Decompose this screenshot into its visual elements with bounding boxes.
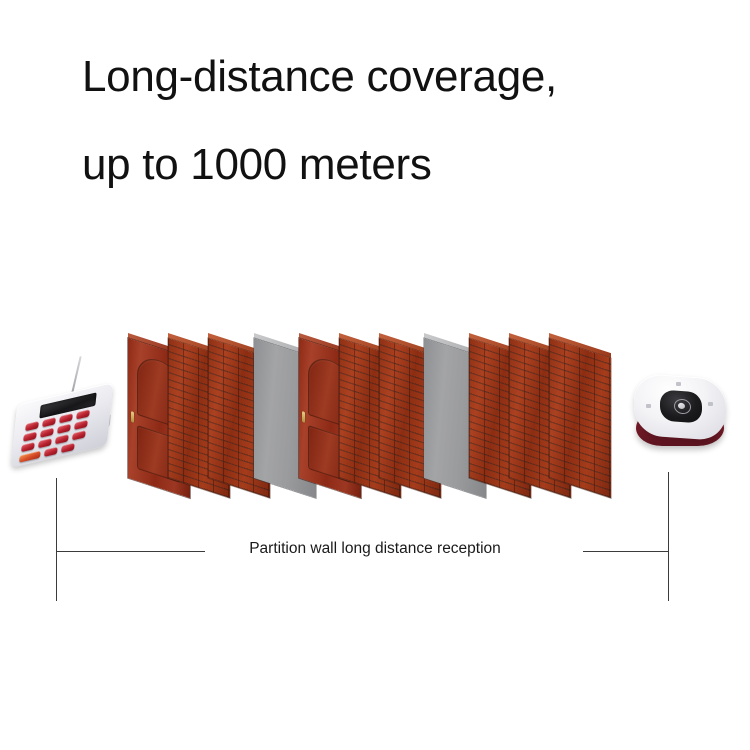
keypad-key[interactable] bbox=[42, 417, 56, 427]
panel-brick bbox=[549, 338, 611, 498]
keypad-key[interactable] bbox=[74, 420, 88, 430]
receiver-indicator-icon bbox=[708, 402, 713, 406]
headline-line-1: Long-distance coverage, bbox=[82, 55, 722, 99]
brick-face bbox=[549, 338, 611, 498]
keypad-key[interactable] bbox=[40, 428, 54, 438]
door-handle bbox=[131, 411, 134, 423]
keypad-key[interactable] bbox=[21, 442, 35, 452]
receiver-call-button[interactable] bbox=[674, 398, 691, 414]
infographic-root: Long-distance coverage, up to 1000 meter… bbox=[0, 0, 750, 750]
transmitter-device[interactable] bbox=[6, 352, 126, 472]
keypad-key[interactable] bbox=[72, 430, 86, 440]
receiver-indicator-icon bbox=[676, 382, 681, 386]
keypad-key[interactable] bbox=[23, 432, 37, 442]
receiver-device[interactable] bbox=[620, 358, 740, 478]
headline-line-2: up to 1000 meters bbox=[82, 143, 722, 187]
keypad-key[interactable] bbox=[38, 438, 52, 448]
door-handle bbox=[302, 411, 305, 423]
page-title: Long-distance coverage, up to 1000 meter… bbox=[82, 55, 722, 187]
keypad-key[interactable] bbox=[57, 424, 71, 434]
keypad-key[interactable] bbox=[55, 434, 69, 444]
keypad-key[interactable] bbox=[25, 421, 39, 431]
keypad-key[interactable] bbox=[59, 413, 73, 423]
keypad-key[interactable] bbox=[76, 409, 90, 419]
receiver-indicator-icon bbox=[646, 404, 651, 408]
caption-label: Partition wall long distance reception bbox=[0, 540, 750, 558]
leader-line-right-vertical bbox=[668, 472, 669, 601]
